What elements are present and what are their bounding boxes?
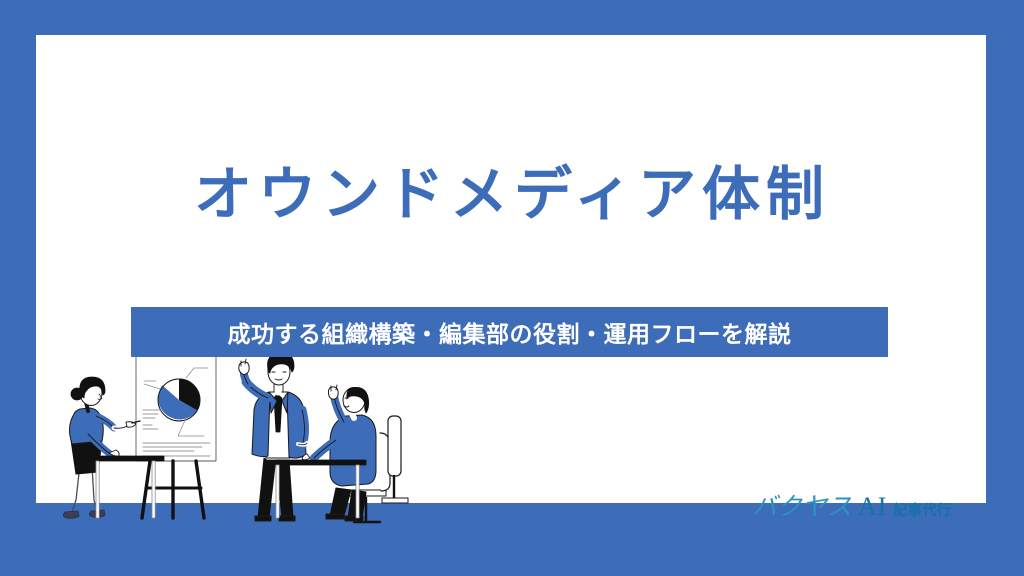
logo-service-text: 記事代行	[893, 500, 951, 520]
easel-with-poster	[136, 356, 216, 518]
brand-logo: バクヤス AI 記事代行	[752, 487, 951, 523]
woman-pointing-figure	[63, 377, 140, 518]
slide-canvas: オウンドメディア体制 成功する組織構築・編集部の役割・運用フローを解説 バクヤス…	[0, 0, 1024, 576]
slide-white-panel	[36, 35, 986, 538]
logo-ai-text: AI	[858, 492, 887, 522]
man-standing-raised-arm	[239, 353, 307, 521]
subtitle-text: 成功する組織構築・編集部の役割・運用フローを解説	[228, 315, 792, 349]
poster-pie-chart	[158, 379, 200, 421]
person-seated-at-monitor	[302, 385, 390, 522]
team-presentation-illustration	[36, 348, 436, 538]
logo-kana-text: バクヤス	[752, 487, 852, 523]
standing-desk-left	[86, 456, 164, 518]
subtitle-banner: 成功する組織構築・編集部の役割・運用フローを解説	[131, 307, 888, 357]
page-title: オウンドメディア体制	[0, 158, 1024, 231]
